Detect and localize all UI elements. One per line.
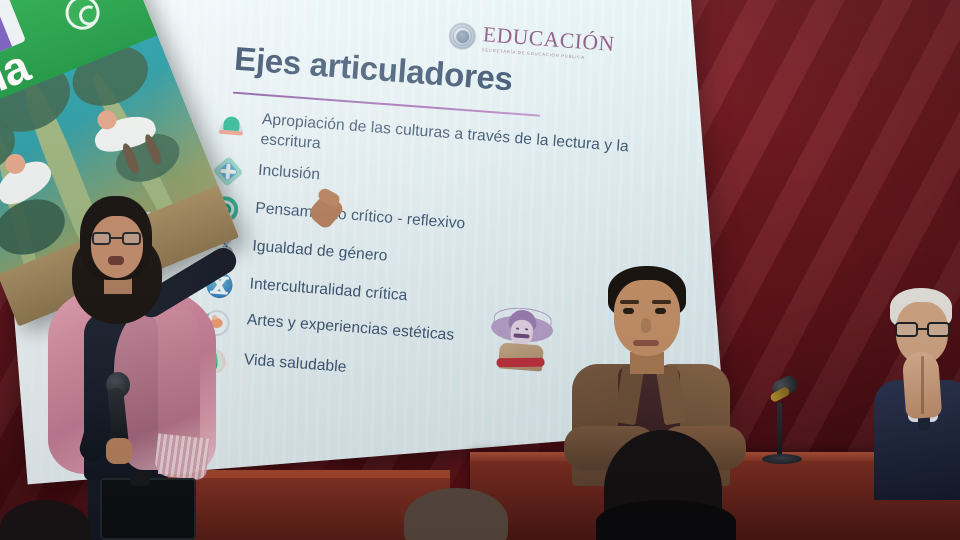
eyeglasses-icon bbox=[92, 232, 141, 245]
list-item-label: Vida saludable bbox=[243, 348, 347, 377]
sep-logo-text: EDUCACIÓN SECRETARÍA DE EDUCACIÓN PÚBLIC… bbox=[482, 24, 616, 61]
open-book-icon bbox=[217, 108, 247, 138]
audience-phone-recording bbox=[100, 478, 196, 540]
presenter-face bbox=[91, 216, 143, 278]
eyeglasses-icon bbox=[895, 322, 950, 337]
mexico-coat-of-arms-icon bbox=[448, 22, 477, 51]
list-item-label: Interculturalidad crítica bbox=[249, 272, 408, 306]
table-microphone bbox=[762, 378, 802, 470]
list-item-label: Artes y experiencias estéticas bbox=[246, 310, 455, 345]
inclusion-diamond-icon bbox=[213, 156, 243, 186]
list-item-label: Igualdad de género bbox=[252, 234, 389, 266]
sep-logo: EDUCACIÓN SECRETARÍA DE EDUCACIÓN PÚBLIC… bbox=[448, 22, 616, 62]
screenshot-stage: EDUCACIÓN SECRETARÍA DE EDUCACIÓN PÚBLIC… bbox=[0, 0, 960, 540]
list-item-label: Inclusión bbox=[257, 158, 320, 184]
elder-man-glasses bbox=[876, 288, 960, 498]
audience-shoulders bbox=[596, 500, 736, 540]
phone-camera-icon bbox=[130, 470, 150, 486]
list-item-label: Pensamiento crítico - reflexivo bbox=[255, 196, 466, 234]
zapata-portrait-emblem bbox=[487, 306, 554, 382]
